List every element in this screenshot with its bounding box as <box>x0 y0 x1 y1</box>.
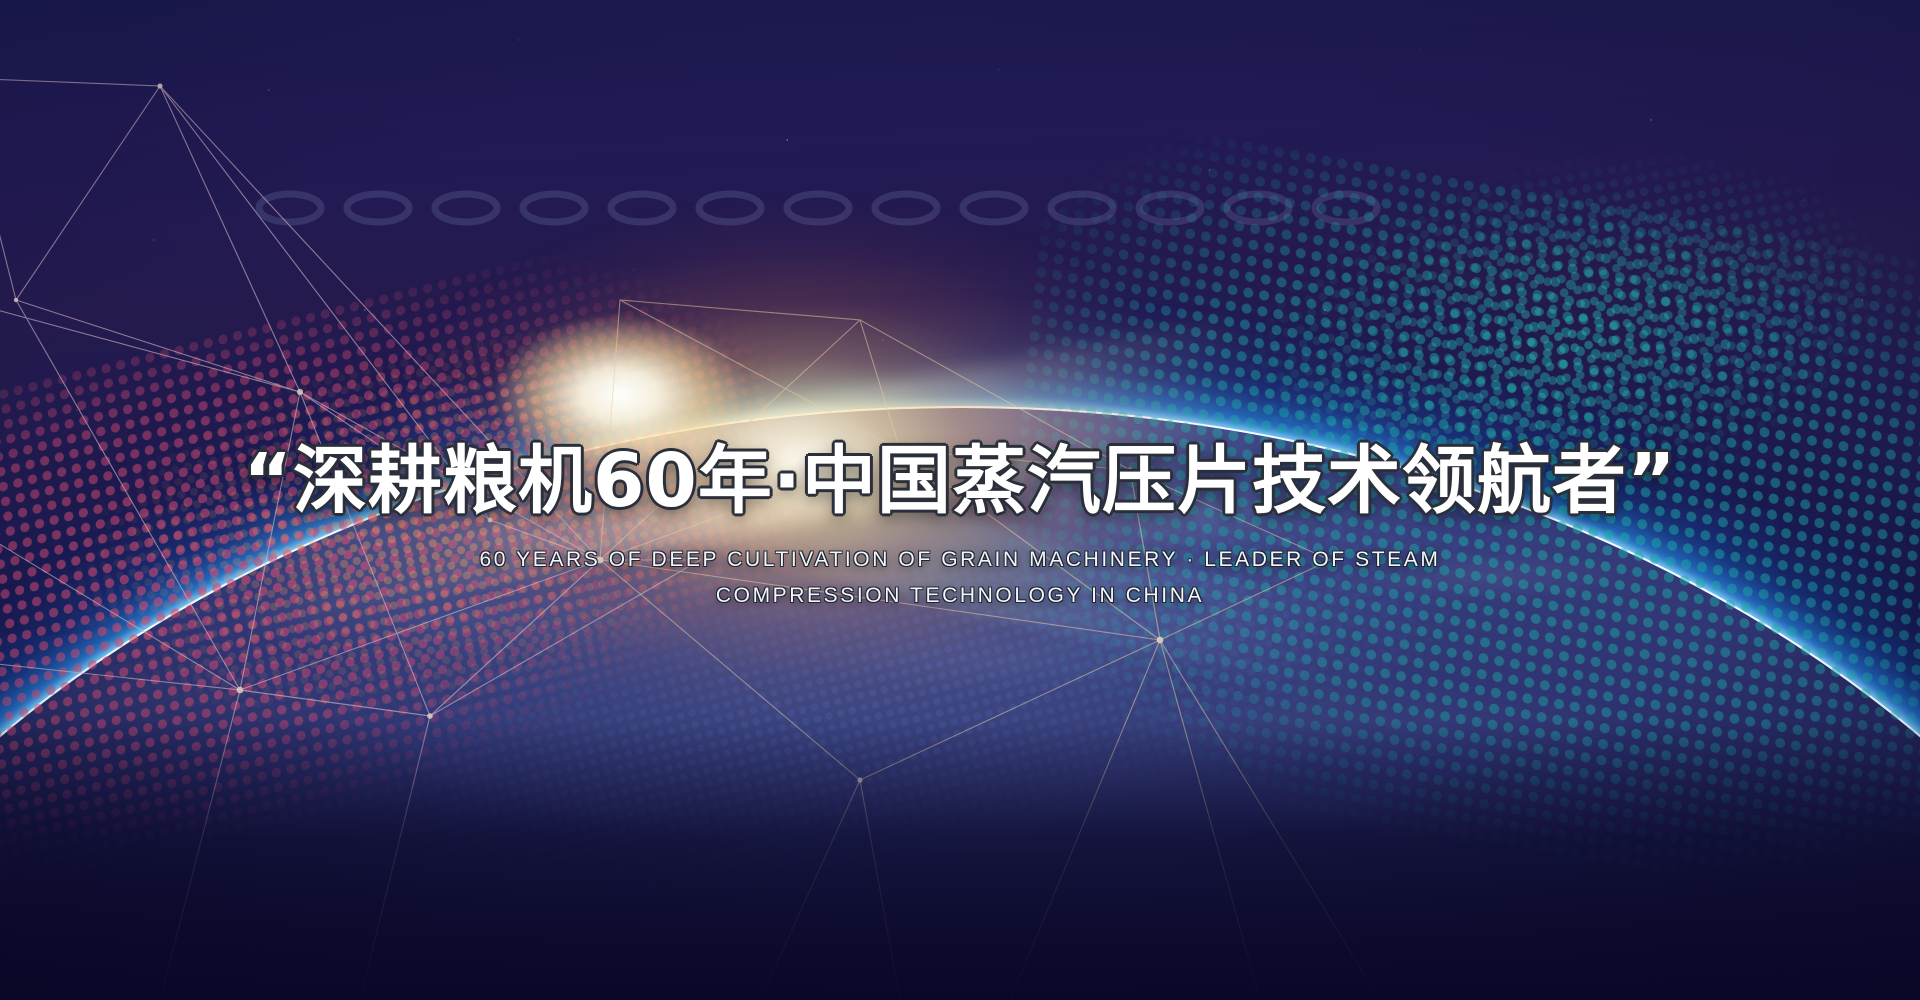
subtitle-group: 60 YEARS OF DEEP CULTIVATION OF GRAIN MA… <box>0 544 1920 612</box>
lower-vignette <box>0 720 1920 1000</box>
page-title: “深耕粮机60年·中国蒸汽压片技术领航者” <box>0 438 1920 524</box>
subtitle-line-2: COMPRESSION TECHNOLOGY IN CHINA <box>0 580 1920 612</box>
banner-canvas: “深耕粮机60年·中国蒸汽压片技术领航者” 60 YEARS OF DEEP C… <box>0 0 1920 1000</box>
banner-text-block: “深耕粮机60年·中国蒸汽压片技术领航者” 60 YEARS OF DEEP C… <box>0 438 1920 612</box>
chain-link-motif-icon <box>250 178 1430 232</box>
subtitle-line-1: 60 YEARS OF DEEP CULTIVATION OF GRAIN MA… <box>0 544 1920 576</box>
